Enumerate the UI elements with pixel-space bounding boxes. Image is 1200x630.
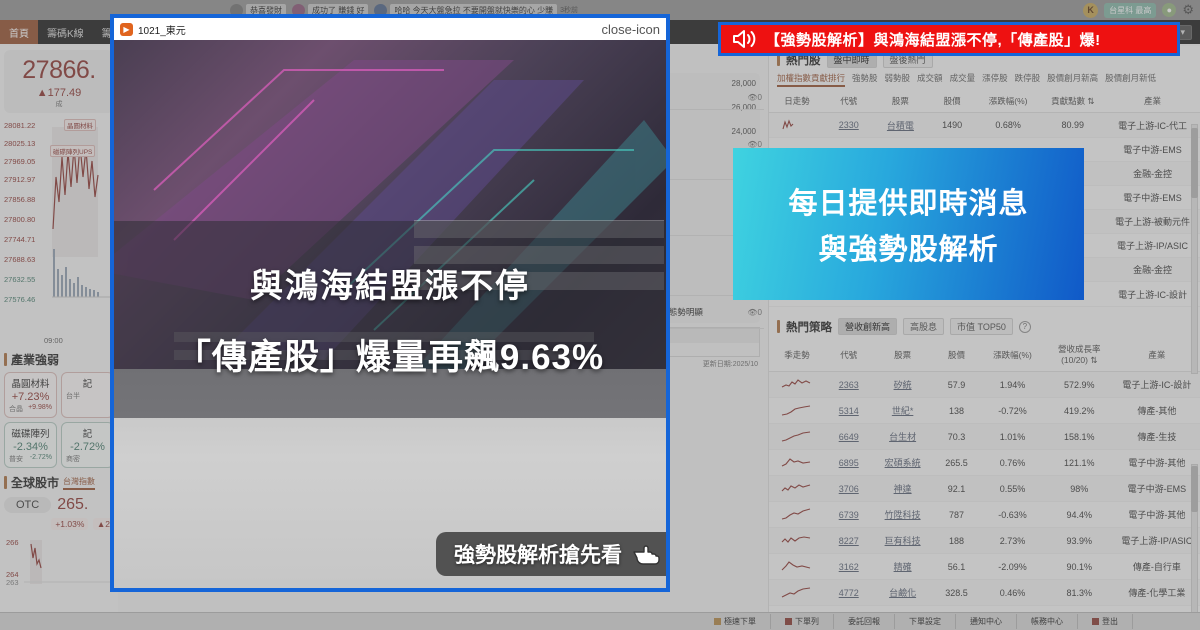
table-row[interactable]: 6649台生材70.31.01%158.1%傳產-生技 [769,424,1200,450]
axis-tick: 27688.63 [4,255,35,264]
industry-name: 磁碟陣列 [7,426,54,440]
stock-code-link[interactable]: 3162 [839,562,859,572]
promo-callout-box: 每日提供即時消息 與強勢股解析 [733,148,1084,300]
axis-tick: 27912.97 [4,175,35,184]
toolbar-order-report[interactable]: 委託回報 [834,614,895,629]
subtab-weak[interactable]: 弱勢股 [885,72,911,87]
chart-tag: 晶圓材料 [64,119,96,131]
axis-tick: 263 [6,578,19,587]
video-cta-row: 強勢股解析搶先看 [118,532,666,576]
stock-name-link[interactable]: 竹陞科技 [885,510,921,520]
stock-change: 1.94% [980,372,1045,398]
subtab-month-high[interactable]: 股價創月新高 [1047,72,1098,87]
revenue-growth: 90.1% [1045,554,1114,580]
table-row[interactable]: 8227巨有科技1882.73%93.9%電子上游-IP/ASIC [769,528,1200,554]
stock-change: -2.09% [980,554,1045,580]
stock-name-link[interactable]: 精確 [894,562,912,572]
sparkline-cell [769,113,825,138]
hot-stocks-subtabs: 加權指數貢獻排行 強勢股 弱勢股 成交額 成交量 漲停股 跌停股 股價創月新高 … [769,71,1200,90]
toolbar-order-list[interactable]: 下單列 [771,614,834,629]
otc-head: OTC 265. [4,496,114,514]
column-header[interactable]: 代號 [825,90,872,113]
sparkline-cell [769,398,825,424]
index-value: 27866. [8,56,110,85]
stock-change: 0.68% [976,113,1041,138]
stock-price: 70.3 [933,424,980,450]
stock-name-link[interactable]: 神達 [894,484,912,494]
stock-name: 普安 [9,454,23,464]
table-row[interactable]: 6895宏碩系統265.50.76%121.1%電子中游-其他 [769,450,1200,476]
axis-tick: 27969.05 [4,157,35,166]
industry-cell: 電子中游-EMS [1105,186,1200,210]
toolbar-order-settings[interactable]: 下單設定 [895,614,956,629]
stock-price: 265.5 [933,450,980,476]
list-icon [785,618,792,625]
video-headline-1: 與鴻海結盟漲不停 [250,259,530,307]
index-quote-card[interactable]: 27866. ▲177.49 成 [4,50,114,113]
close-icon[interactable]: close-icon [601,22,660,37]
industry-name: 記 [64,426,111,440]
table-row[interactable]: 2330 台積電 1490 0.68% 80.99 電子上游-IC-代工 [769,113,1200,138]
subtab-volume[interactable]: 成交量 [950,72,976,87]
panel-title: 熱門策略 [786,319,832,335]
stock-code-link[interactable]: 8227 [839,536,859,546]
revenue-growth: 121.1% [1045,450,1114,476]
sparkline-cell [769,554,825,580]
alert-marquee-banner[interactable]: 【強勢股解析】與鴻海結盟漲不停,「傳產股」爆! [718,22,1180,56]
speaker-icon [731,28,757,50]
subtab-index-contribution[interactable]: 加權指數貢獻排行 [777,72,845,87]
stock-change: 0.76% [980,450,1045,476]
video-headline-2: 「傳產股」爆量再飆9.63% [176,329,604,380]
stock-name-link[interactable]: 世紀* [892,406,914,416]
column-header[interactable]: 股票 [872,338,932,372]
stock-name-link[interactable]: 台生材 [889,432,916,442]
revenue-growth: 81.3% [1045,580,1114,606]
nav-item-chip-kline[interactable]: 籌碼K線 [38,20,93,44]
stock-price: 138 [933,398,980,424]
column-header[interactable]: 日走勢 [769,90,825,113]
stock-change: 0.55% [980,476,1045,502]
stock-name: 商密 [66,454,80,464]
stock-change: 2.73% [980,528,1045,554]
industry-card[interactable]: 晶圓材料 +7.23% 合晶 +9.98% [4,372,57,418]
toolbar-logout[interactable]: 登出 [1078,614,1133,629]
nav-item-home[interactable]: 首頁 [0,20,38,44]
section-label: 全球股市 [11,474,59,491]
revenue-growth: 94.4% [1045,502,1114,528]
revenue-growth: 572.9% [1045,372,1114,398]
otc-change-pct: +1.03% [51,518,88,530]
industry-cell: 電子上游-IC-代工 [1105,113,1200,138]
stock-code-link[interactable]: 2363 [839,380,859,390]
revenue-growth: 93.9% [1045,528,1114,554]
sparkline-icon [779,481,815,496]
subtab-month-low[interactable]: 股價創月新低 [1105,72,1156,87]
scrollbar-thumb[interactable] [1191,466,1198,512]
industry-cell: 傳產-其他 [1114,398,1200,424]
industry-cell: 金融-金控 [1105,258,1200,282]
sparkline-icon [779,455,815,470]
stock-change: -0.63% [980,502,1045,528]
industry-percent: +7.23% [7,391,54,403]
column-header[interactable]: 營收成長率 (10/20) ⇅ [1045,338,1114,372]
window-titlebar[interactable]: ▶ 1021_東元 close-icon [114,18,666,40]
industry-cell: 傳產-生技 [1114,424,1200,450]
stock-price: 787 [933,502,980,528]
bolt-icon [714,618,721,625]
table-row[interactable]: 4772台鹼化328.50.46%81.3%傳產-化學工業 [769,580,1200,606]
table-row[interactable]: 6739竹陞科技787-0.63%94.4%電子中游-其他 [769,502,1200,528]
subtab-limit-up[interactable]: 漲停股 [982,72,1008,87]
stock-percent: -2.72% [30,454,52,464]
sparkline-cell [769,476,825,502]
stock-change: 0.46% [980,580,1045,606]
industry-cell: 電子中游-EMS [1105,138,1200,162]
section-accent-bar [4,476,7,489]
video-viewport[interactable]: 與鴻海結盟漲不停 「傳產股」爆量再飆9.63% 強勢股解析搶先看 [114,40,666,588]
industry-percent: -2.34% [7,441,54,453]
stock-price: 1490 [928,113,975,138]
subtab-turnover[interactable]: 成交額 [917,72,943,87]
sparkline-icon [779,585,815,600]
stock-code-link[interactable]: 5314 [839,406,859,416]
toolbar-notification-center[interactable]: 通知中心 [956,614,1017,629]
sparkline-cell [769,424,825,450]
stock-code-link[interactable]: 3706 [839,484,859,494]
otc-line-svg [4,534,114,594]
view-count: 👁0 [736,93,762,102]
index-change: ▲177.49 [8,87,110,99]
tab-marketcap-top50[interactable]: 市值 TOP50 [950,318,1013,335]
section-accent-bar [4,353,7,366]
sparkline-icon [779,559,815,574]
section-label: 產業強弱 [11,351,59,368]
revenue-growth: 98% [1045,476,1114,502]
video-headline-overlay: 與鴻海結盟漲不停 「傳產股」爆量再飆9.63% [114,221,666,418]
subtab-limit-down[interactable]: 跌停股 [1015,72,1041,87]
sparkline-icon [780,118,814,132]
stock-change: 1.01% [980,424,1045,450]
industry-card[interactable]: 磁碟陣列 -2.34% 普安 -2.72% [4,422,57,468]
industry-card[interactable]: 記 台半 [61,372,114,418]
column-header[interactable]: 產業 [1114,338,1200,372]
sparkline-cell [769,372,825,398]
sparkline-icon [779,377,815,392]
stock-price: 328.5 [933,580,980,606]
column-header[interactable]: 股價 [928,90,975,113]
question-icon[interactable]: ? [1019,321,1031,333]
promo-line-1: 每日提供即時消息 [788,180,1028,222]
otc-label: OTC [4,497,51,513]
industry-percent: -2.72% [64,441,111,453]
section-accent-bar [777,320,780,333]
revenue-growth: 158.1% [1045,424,1114,450]
industry-card[interactable]: 記 -2.72% 商密 [61,422,114,468]
revenue-growth: 419.2% [1045,398,1114,424]
stock-code-link[interactable]: 4772 [839,588,859,598]
sparkline-icon [779,533,815,548]
window-title: 1021_東元 [138,22,186,37]
industry-cell: 電子中游-其他 [1114,502,1200,528]
stock-name-link[interactable]: 宏碩系統 [885,458,921,468]
column-header[interactable]: 股票 [872,90,928,113]
column-header[interactable]: 漲跌幅(%) [980,338,1045,372]
industry-name: 記 [64,376,111,390]
hot-strategy-table: 季走勢 代號 股票 股價 漲跌幅(%) 營收成長率 (10/20) ⇅ 產業 2… [769,338,1200,606]
chat-bubble-icon[interactable]: ● [1162,3,1176,17]
sparkline-cell [769,580,825,606]
industry-top-stock: 商密 [64,454,111,464]
table-row[interactable]: 3706神達92.10.55%98%電子中游-EMS [769,476,1200,502]
sparkline-icon [779,403,815,418]
stock-change: -0.72% [980,398,1045,424]
right-panel: 熱門股 盤中即時 盤後熱門 加權指數貢獻排行 強勢股 弱勢股 成交額 成交量 漲… [768,46,1200,612]
gear-icon[interactable]: ⚙ [1182,2,1194,18]
table-header-row: 季走勢 代號 股票 股價 漲跌幅(%) 營收成長率 (10/20) ⇅ 產業 [769,338,1200,372]
stock-percent: +9.98% [28,404,52,414]
table-row[interactable]: 2363矽統57.91.94%572.9%電子上游-IC-設計 [769,372,1200,398]
industry-cell: 傳產-自行車 [1114,554,1200,580]
industry-cell: 電子上游-IC-設計 [1114,372,1200,398]
otc-value: 265. [57,496,88,514]
table-row[interactable]: 5314世紀*138-0.72%419.2%傳產-其他 [769,398,1200,424]
stock-name-link[interactable]: 台鹼化 [889,588,916,598]
logout-icon [1092,618,1099,625]
sparkline-icon [779,507,815,522]
axis-tick: 28081.22 [4,121,35,130]
os-strip-right: K 台星科 最高 ● ⚙ [1083,2,1200,18]
tab-revenue-high[interactable]: 營收創新高 [838,318,897,335]
industry-top-stock: 普安 -2.72% [7,454,54,464]
industry-cell: 電子上游-被動元件 [1105,210,1200,234]
app-icon: ▶ [120,23,133,36]
axis-tick: 28025.13 [4,139,35,148]
marquee-text: 【強勢股解析】與鴻海結盟漲不停,「傳產股」爆! [765,29,1101,50]
promo-line-2: 與強勢股解析 [818,226,998,268]
column-header[interactable]: 季走勢 [769,338,825,372]
stock-code-link[interactable]: 6739 [839,510,859,520]
stock-price: 188 [933,528,980,554]
cta-text: 強勢股解析搶先看 [454,539,622,569]
industry-cell: 電子中游-其他 [1114,450,1200,476]
sparkline-icon [779,429,815,444]
global-markets-title: 全球股市 台灣指數 [0,470,118,493]
table-header-row: 日走勢 代號 股票 股價 漲跌幅(%) 貢獻點數 ⇅ 產業 [769,90,1200,113]
industry-strength-title: 產業強弱 [0,347,118,370]
stock-code-link[interactable]: 6649 [839,432,859,442]
industry-cell: 金融-金控 [1105,162,1200,186]
industry-top-stock: 台半 [64,391,111,401]
column-header[interactable]: 股價 [933,338,980,372]
stock-code-link[interactable]: 2330 [839,120,859,130]
pointing-hand-icon [630,541,664,567]
toolbar-quick-order[interactable]: 極速下單 [700,614,771,629]
industry-cell: 電子上游-IP/ASIC [1105,234,1200,258]
column-header[interactable]: 貢獻點數 ⇅ [1040,90,1105,113]
index-intraday-chart[interactable]: 28081.22 28025.13 27969.05 27912.97 2785… [2,117,116,347]
otc-quote-block[interactable]: OTC 265. +1.03% ▲2 266 264 263 [4,496,114,594]
otc-mini-chart: 266 264 263 [4,534,114,594]
industry-top-stock: 合晶 +9.98% [7,404,54,414]
axis-tick: 27744.71 [4,235,35,244]
stock-name: 合晶 [9,404,23,414]
industry-cell: 電子中游-EMS [1114,476,1200,502]
stock-price: 57.9 [933,372,980,398]
stock-name-link[interactable]: 巨有科技 [885,536,921,546]
stock-price: 92.1 [933,476,980,502]
sparkline-cell [769,450,825,476]
bottom-toolbar: 極速下單 下單列 委託回報 下單設定 通知中心 帳務中心 登出 [0,612,1200,630]
coin-icon[interactable]: K [1083,3,1098,18]
stock-name: 台半 [66,391,80,401]
industry-name: 晶圓材料 [7,376,54,390]
axis-tick: 27576.46 [4,295,35,304]
sparkline-cell [769,528,825,554]
tab-taiwan-index[interactable]: 台灣指數 [63,476,95,490]
axis-tick: 27800.80 [4,215,35,224]
left-sidebar: 27866. ▲177.49 成 28081.22 28025.13 27969… [0,46,118,630]
stock-code-link[interactable]: 6895 [839,458,859,468]
column-header[interactable]: 漲跌幅(%) [976,90,1041,113]
scrollbar-thumb[interactable] [1191,128,1198,198]
axis-tick: 27632.55 [4,275,35,284]
index-sub-label: 成 [8,99,110,109]
screenshot-root: 恭喜發財 成功了 賺錢 好 哈哈 今天大盤急拉 不要開盤就快樂的心 少賺 3秒前… [0,0,1200,630]
stock-price: 56.1 [933,554,980,580]
hot-strategy-header: 熱門策略 營收創新高 高股息 市值 TOP50 ? [769,313,1200,338]
subtab-strong[interactable]: 強勢股 [852,72,878,87]
axis-tick: 266 [6,538,19,547]
time-axis-label: 09:00 [44,336,63,345]
video-player-window[interactable]: ▶ 1021_東元 close-icon [110,14,670,592]
industry-cell: 電子上游-IP/ASIC [1114,528,1200,554]
column-header[interactable]: 產業 [1105,90,1200,113]
stock-name-link[interactable]: 台積電 [887,121,914,131]
toolbar-account-center[interactable]: 帳務中心 [1017,614,1078,629]
chart-tag: 磁碟陣列UPS [50,145,95,157]
axis-tick: 27856.88 [4,195,35,204]
industry-cell: 電子上游-IC-設計 [1105,282,1200,307]
cta-pill[interactable]: 強勢股解析搶先看 [436,532,666,576]
column-header[interactable]: 代號 [825,338,872,372]
table-row[interactable]: 3162精確56.1-2.09%90.1%傳產-自行車 [769,554,1200,580]
sparkline-cell [769,502,825,528]
industry-card-grid: 晶圓材料 +7.23% 合晶 +9.98% 記 台半 磁碟陣 [0,370,118,470]
stock-alert-pill[interactable]: 台星科 最高 [1104,3,1156,18]
stock-name-link[interactable]: 矽統 [894,380,912,390]
tab-high-dividend[interactable]: 高股息 [903,318,944,335]
view-count: 👁0 [736,308,762,317]
contribution-points: 80.99 [1040,113,1105,138]
industry-cell: 傳產-化學工業 [1114,580,1200,606]
